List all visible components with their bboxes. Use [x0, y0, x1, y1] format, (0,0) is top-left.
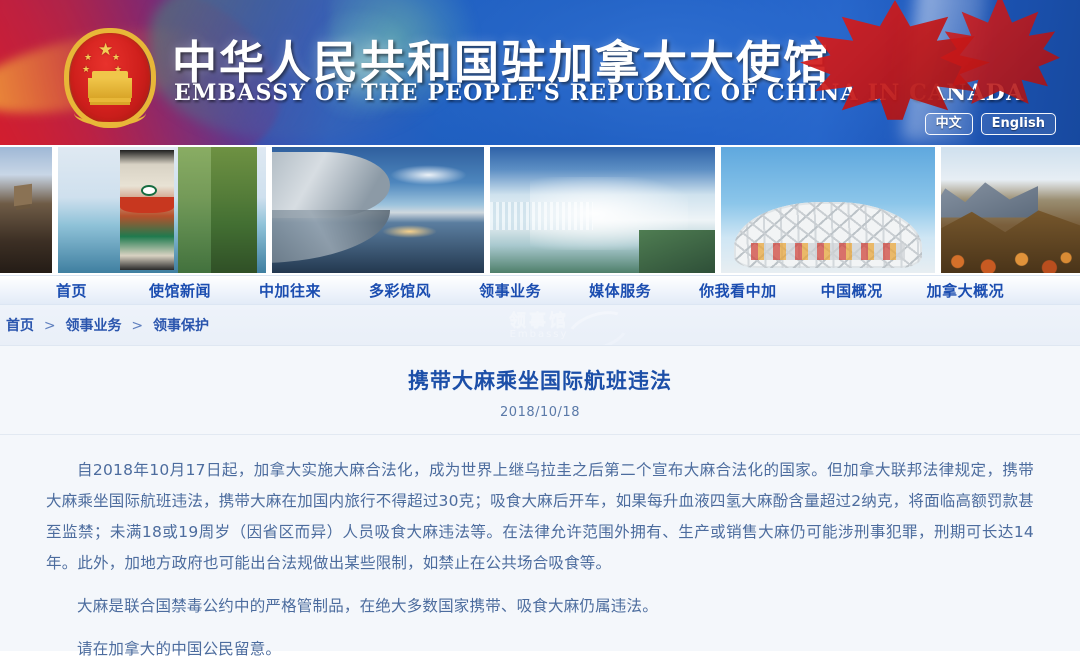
autumn-foliage [941, 235, 1080, 273]
ncpa-clouds [390, 165, 466, 185]
watermark-swoosh-icon [562, 305, 634, 346]
totem-beak [120, 197, 174, 212]
ncpa-sun-reflection [382, 225, 437, 238]
nav-item-china-overview[interactable]: 中国概况 [821, 280, 883, 301]
embassy-page: ★ ★ ★ ★ ★ 中华人民共和国驻加拿大大使馆 EMBASSY OF THE … [0, 0, 1080, 637]
photo-gallery-strip [0, 145, 1080, 275]
site-header-banner: ★ ★ ★ ★ ★ 中华人民共和国驻加拿大大使馆 EMBASSY OF THE … [0, 0, 1080, 145]
nav-item-embassy-news[interactable]: 使馆新闻 [149, 280, 211, 301]
article-header: 携带大麻乘坐国际航班违法 2018/10/18 [0, 346, 1080, 435]
nav-item-canada-overview[interactable]: 加拿大概况 [927, 280, 1005, 301]
article-date: 2018/10/18 [0, 405, 1080, 420]
gallery-photo-totem-pole[interactable] [58, 147, 266, 273]
emblem-star-small: ★ [112, 54, 120, 63]
article-paragraph: 大麻是联合国禁毒公约中的严格管制品，在绝大多数国家携带、吸食大麻仍属违法。 [46, 591, 1034, 622]
totem-pole-image [58, 147, 266, 273]
article-title: 携带大麻乘坐国际航班违法 [0, 368, 1080, 394]
gallery-photo-great-wall[interactable] [0, 147, 52, 273]
article-paragraph: 自2018年10月17日起，加拿大实施大麻合法化，成为世界上继乌拉圭之后第二个宣… [46, 455, 1034, 579]
breadcrumb-item-home[interactable]: 首页 [6, 318, 34, 334]
main-navigation: 首页 使馆新闻 中加往来 多彩馆风 领事业务 媒体服务 你我看中加 中国概况 加… [0, 275, 1080, 305]
site-watermark: 领事馆 Embassy [424, 307, 654, 346]
emblem-wheat-base [74, 100, 146, 126]
breadcrumb: 首页 > 领事业务 > 领事保护 [0, 315, 209, 335]
language-button-chinese[interactable]: 中文 [925, 113, 973, 135]
watermark-text-english: Embassy [510, 329, 569, 341]
emblem-star-small: ★ [84, 54, 92, 63]
article-container: 携带大麻乘坐国际航班违法 2018/10/18 自2018年10月17日起，加拿… [0, 346, 1080, 651]
ncpa-image [272, 147, 484, 273]
mountain-ridge [941, 175, 1038, 218]
language-switcher: 中文 English [925, 113, 1056, 135]
article-paragraph: 请在加拿大的中国公民留意。 [46, 634, 1034, 665]
totem-tree-front [211, 147, 257, 273]
great-wall-image [0, 147, 52, 273]
article-body: 自2018年10月17日起，加拿大实施大麻合法化，成为世界上继乌拉圭之后第二个宣… [0, 435, 1080, 665]
emblem-star-large: ★ [98, 42, 113, 59]
emblem-tiananmen-gate [88, 78, 132, 98]
autumn-mountains-image [941, 147, 1080, 273]
emblem-star-small: ★ [82, 66, 90, 75]
watermark-text-chinese: 领事馆 [509, 313, 569, 329]
nav-item-home[interactable]: 首页 [56, 280, 87, 301]
nav-item-china-canada-exchange[interactable]: 中加往来 [259, 280, 321, 301]
breadcrumb-separator: > [44, 318, 56, 334]
nav-item-you-and-me[interactable]: 你我看中加 [699, 280, 777, 301]
birds-nest-image [721, 147, 935, 273]
nav-item-consular-services[interactable]: 领事业务 [479, 280, 541, 301]
gallery-photo-ncpa[interactable] [272, 147, 484, 273]
gallery-photo-niagara-falls[interactable] [490, 147, 716, 273]
breadcrumb-item-consular-protection[interactable]: 领事保护 [153, 318, 209, 334]
ncpa-dome-reflection [272, 210, 391, 263]
ncpa-dome [272, 152, 391, 218]
breadcrumb-item-consular-services[interactable]: 领事业务 [65, 318, 121, 334]
nav-item-media-services[interactable]: 媒体服务 [589, 280, 651, 301]
stadium-seats [751, 243, 905, 261]
gallery-photo-autumn-mountains[interactable] [941, 147, 1080, 273]
totem-tree-back [178, 147, 211, 273]
nav-item-embassy-life[interactable]: 多彩馆风 [369, 280, 431, 301]
language-button-english[interactable]: English [981, 113, 1056, 135]
breadcrumb-bar: 领事馆 Embassy 首页 > 领事业务 > 领事保护 [0, 305, 1080, 346]
breadcrumb-separator: > [131, 318, 143, 334]
falls-rocks [639, 230, 716, 273]
gallery-photo-birds-nest[interactable] [721, 147, 935, 273]
china-national-emblem-icon: ★ ★ ★ ★ ★ [58, 26, 162, 134]
niagara-falls-image [490, 147, 716, 273]
